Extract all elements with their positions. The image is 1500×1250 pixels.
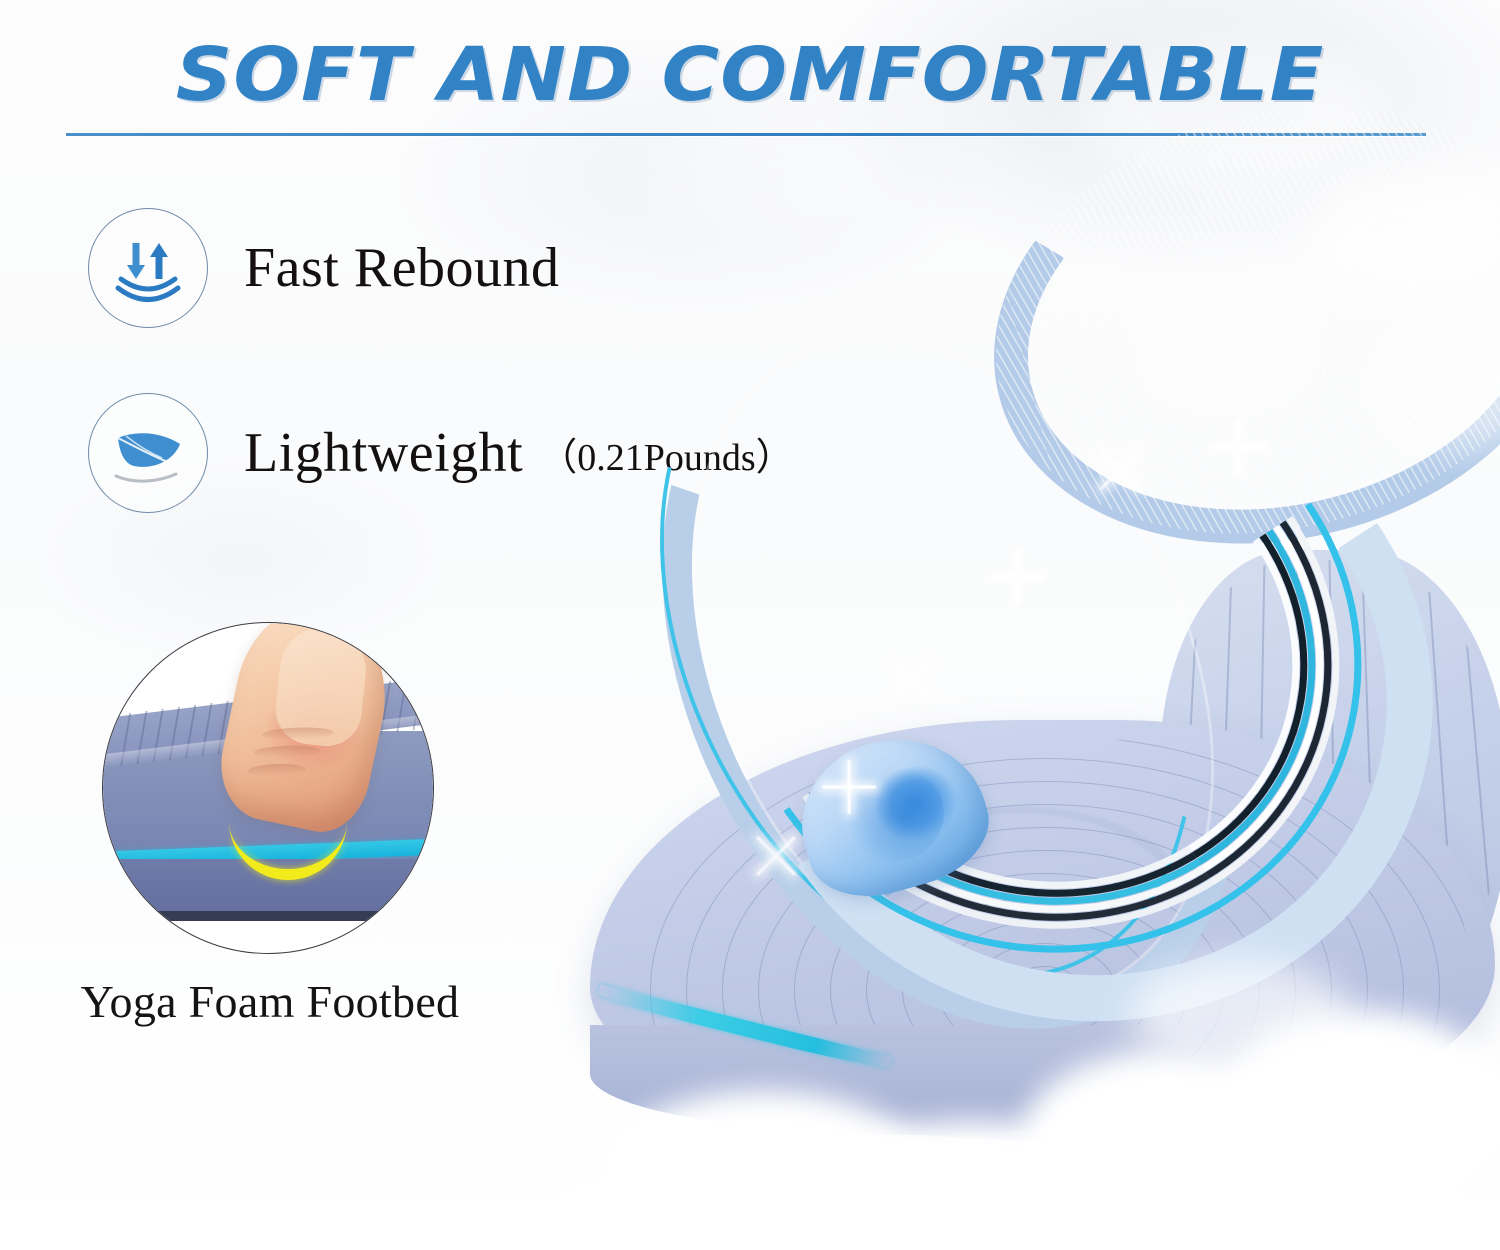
knuckle-crease bbox=[254, 745, 320, 759]
cloud-decoration bbox=[1150, 320, 1300, 400]
knuckle-crease bbox=[248, 763, 306, 777]
page-title: SOFT AND COMFORTABLE bbox=[0, 38, 1500, 112]
cloud-decoration bbox=[1130, 960, 1350, 1070]
feature-label: Lightweight bbox=[244, 421, 523, 485]
feature-label: Fast Rebound bbox=[244, 236, 560, 300]
page-title-text: SOFT AND COMFORTABLE bbox=[0, 38, 1500, 112]
toe-post-swirl bbox=[833, 758, 954, 874]
feather-icon bbox=[106, 416, 190, 490]
footbed-inset-image bbox=[102, 622, 434, 954]
product-feature-image: SOFT AND COMFORTABLE Fast Rebound bbox=[0, 0, 1500, 1250]
feature-fast-rebound: Fast Rebound bbox=[88, 208, 560, 328]
footbed-caption: Yoga Foam Footbed bbox=[60, 975, 480, 1028]
rebound-arrows-icon bbox=[109, 229, 187, 307]
feature-icon-badge bbox=[88, 208, 208, 328]
feature-icon-badge bbox=[88, 393, 208, 513]
outsole-edge bbox=[143, 911, 393, 921]
